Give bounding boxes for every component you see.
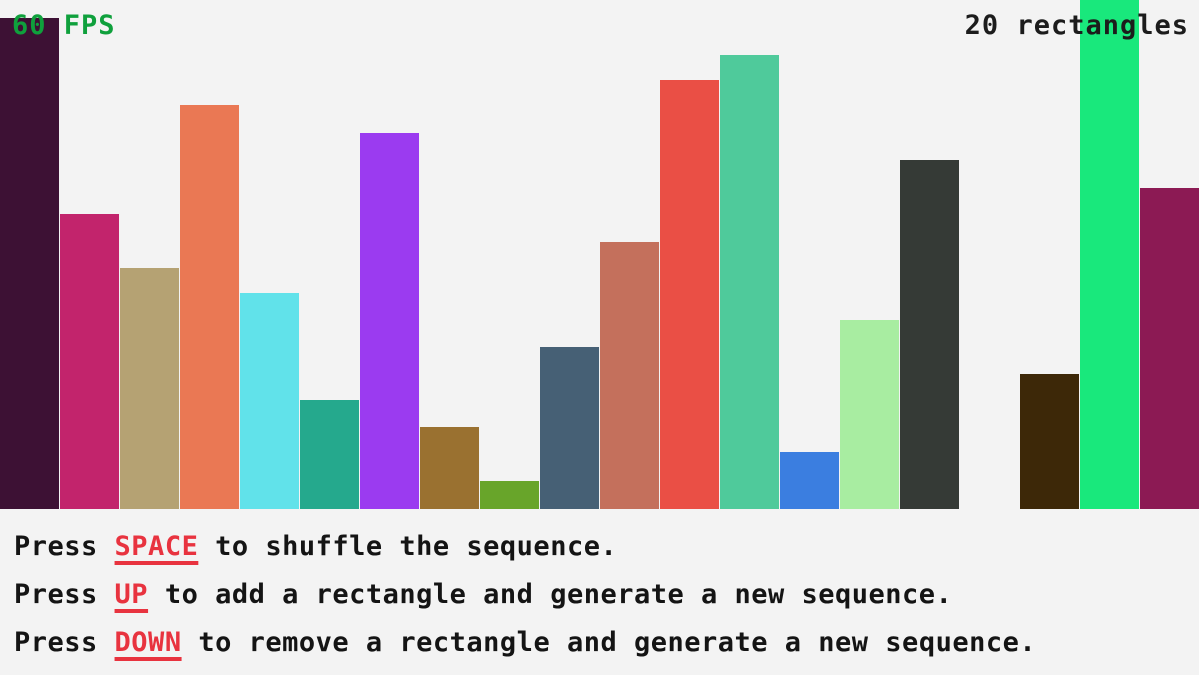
rectangle-sequence-app: 60 FPS 20 rectangles Press SPACE to shuf…: [0, 0, 1199, 675]
instruction-prefix: Press: [14, 531, 115, 562]
bar-18-dark-brown: [1020, 374, 1079, 509]
bar-8-ochre-brown: [420, 427, 479, 509]
bar-11-terracotta: [600, 242, 659, 509]
bar-13-sea-green: [720, 55, 779, 509]
bar-6-teal: [300, 400, 359, 509]
key-up[interactable]: UP: [115, 579, 149, 610]
instruction-line-3: Press DOWN to remove a rectangle and gen…: [14, 619, 1199, 667]
bar-20-dark-magenta: [1140, 188, 1199, 509]
bar-7-purple: [360, 133, 419, 509]
bar-16-charcoal: [900, 160, 959, 509]
bar-19-bright-green: [1080, 0, 1139, 509]
instruction-suffix: to remove a rectangle and generate a new…: [182, 627, 1037, 658]
instructions-panel: Press SPACE to shuffle the sequence.Pres…: [0, 509, 1199, 675]
instruction-suffix: to add a rectangle and generate a new se…: [148, 579, 952, 610]
bar-10-slate-blue: [540, 347, 599, 509]
rectangle-count-label: 20 rectangles: [965, 11, 1189, 41]
instruction-line-2: Press UP to add a rectangle and generate…: [14, 571, 1199, 619]
bar-12-red: [660, 80, 719, 509]
bar-14-blue: [780, 452, 839, 509]
bar-3-tan: [120, 268, 179, 509]
bar-2-magenta-pink: [60, 214, 119, 509]
instruction-line-1: Press SPACE to shuffle the sequence.: [14, 523, 1199, 571]
instruction-prefix: Press: [14, 627, 115, 658]
bar-1-dark-plum: [0, 18, 59, 509]
bar-5-cyan: [240, 293, 299, 509]
bar-chart-canvas[interactable]: [0, 0, 1199, 509]
bar-9-olive-green: [480, 481, 539, 509]
key-space[interactable]: SPACE: [115, 531, 199, 562]
bar-4-orange: [180, 105, 239, 509]
bar-15-light-green: [840, 320, 899, 509]
instruction-suffix: to shuffle the sequence.: [198, 531, 617, 562]
instruction-prefix: Press: [14, 579, 115, 610]
fps-counter: 60 FPS: [12, 11, 116, 41]
key-down[interactable]: DOWN: [115, 627, 182, 658]
